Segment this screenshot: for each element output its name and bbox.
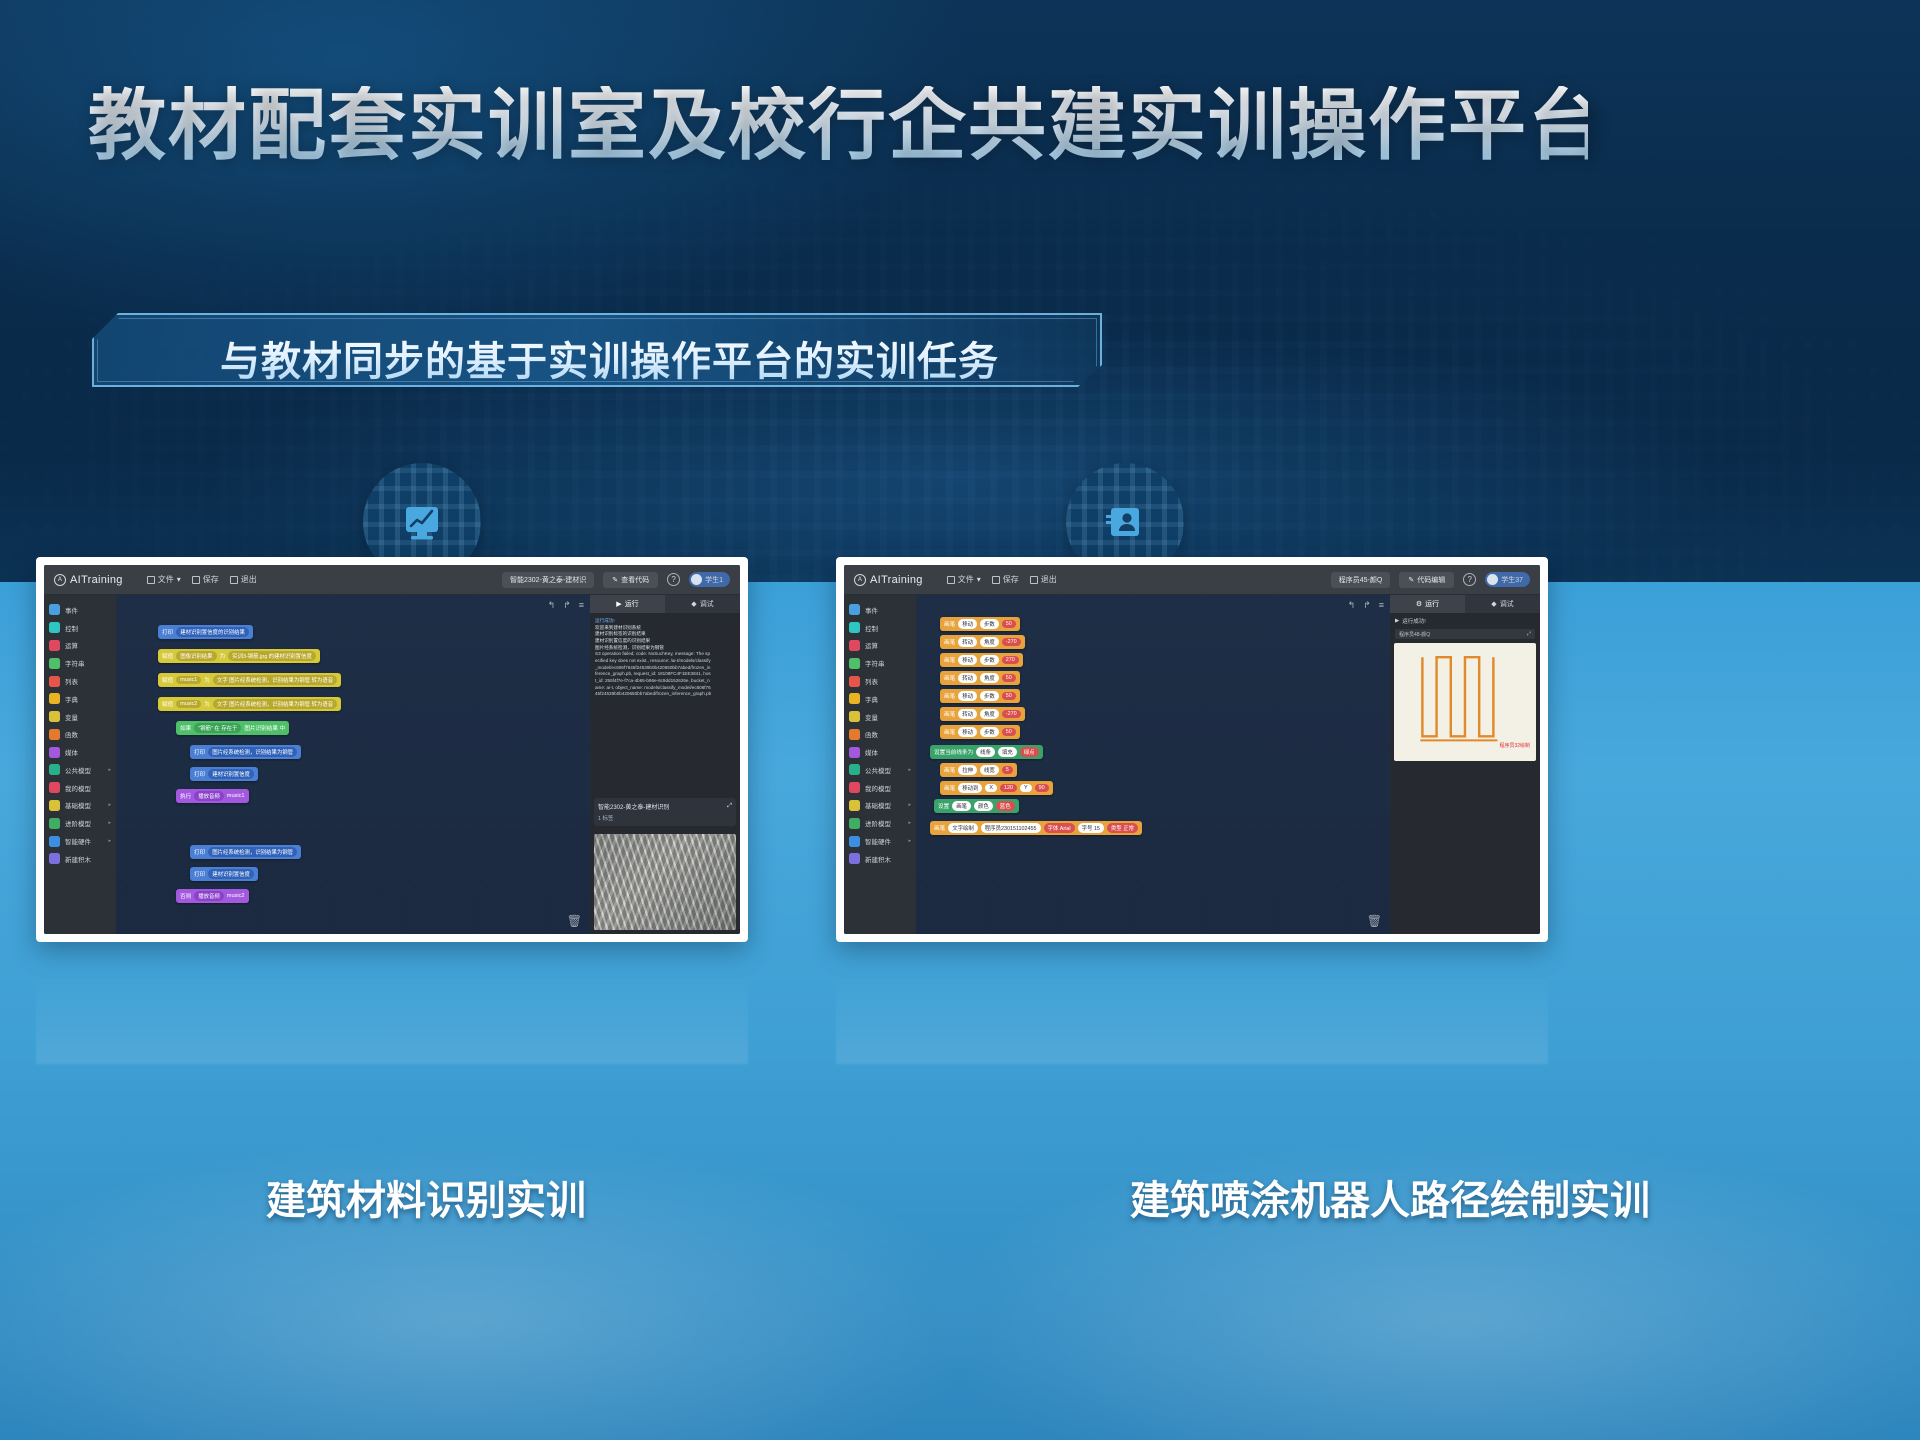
palette-item-14[interactable]: 新建积木 — [44, 850, 116, 868]
code-block-0[interactable]: 打印建材识别置信度的识别结果 — [158, 625, 253, 639]
tab-debug-label: 调试 — [1500, 599, 1514, 609]
palette-category-icon — [49, 853, 60, 864]
block-label: 画笔 — [944, 784, 955, 792]
code-edit-button[interactable]: ✎ 代码编辑 — [1399, 572, 1454, 588]
help-icon[interactable]: ? — [667, 573, 680, 586]
palette-item-11[interactable]: 基础模型▸ — [844, 797, 916, 815]
code-block-10[interactable]: 否则播放音频music2 — [176, 889, 249, 903]
undo-icon[interactable]: ↰ — [1348, 600, 1356, 611]
block-slot-1[interactable]: 为 — [220, 652, 226, 660]
palette-item-9[interactable]: 公共模型▸ — [844, 761, 916, 779]
palette-category-icon — [49, 604, 60, 615]
code-block-10[interactable]: 设置画笔颜色蓝色 — [934, 799, 1019, 813]
block-slot-0[interactable]: music1 — [176, 676, 201, 684]
code-block-8[interactable]: 打印图片经系统检测，识别结果为钢管 — [190, 845, 301, 859]
code-block-8[interactable]: 画笔拉伸线宽5 — [940, 763, 1017, 777]
canvas-grid — [116, 595, 590, 934]
palette-category-icon — [49, 836, 60, 847]
menu-item-save-label: 保存 — [203, 574, 219, 585]
code-block-6[interactable]: 画笔移动步数50 — [940, 725, 1020, 739]
tab-run[interactable]: ▶ 运行 — [590, 595, 665, 613]
file-icon — [947, 576, 955, 584]
block-label: 否则 — [180, 892, 191, 900]
right-app-menu: 文件 ▾ 保存 退出 — [947, 574, 1057, 585]
block-slot-1[interactable]: music2 — [227, 893, 245, 899]
palette-category-icon — [849, 818, 860, 829]
chevron-right-icon: ▸ — [908, 767, 911, 773]
save-icon — [992, 576, 1000, 584]
block-slot-0[interactable]: 图片经系统检测，识别结果为钢管 — [208, 847, 297, 857]
user-chip[interactable]: 学生37 — [1485, 572, 1530, 587]
palette-item-label: 公共模型 — [65, 765, 91, 775]
block-slot-0[interactable]: 建材识别置信度的识别结果 — [176, 627, 249, 637]
right-app-header: A AITraining 文件 ▾ 保存 退出 — [844, 565, 1540, 595]
console-line-8: t_id: 255f4f7e-f7ca-4b65-b96e-6c9dd15262… — [595, 678, 735, 685]
block-slot-4[interactable]: 类型 正常 — [1107, 823, 1138, 833]
screenshot-card-right: A AITraining 文件 ▾ 保存 退出 — [836, 557, 1548, 942]
menu-icon[interactable]: ≡ — [579, 600, 584, 611]
code-block-7[interactable]: 设置当前线条为线条填充绿点 — [930, 745, 1043, 759]
palette-item-7[interactable]: 函数 — [844, 725, 916, 743]
brand-name: AITraining — [870, 574, 923, 586]
subtitle-text: 与教材同步的基于实训操作平台的实训任务 — [220, 329, 999, 387]
stage-label-text: 程序员48-颜Q — [1399, 631, 1430, 638]
palette-item-label: 列表 — [65, 676, 78, 686]
palette-item-label: 变量 — [865, 712, 878, 722]
user-label: 学生37 — [1501, 575, 1523, 585]
palette-item-5[interactable]: 字典 — [44, 690, 116, 708]
expand-icon[interactable]: ⤢ — [1527, 631, 1531, 637]
left-app-body: 事件控制运算字符串列表字典变量函数媒体公共模型▸我的模型基础模型▸进阶模型▸智能… — [44, 595, 740, 934]
palette-item-label: 列表 — [865, 676, 878, 686]
gear-icon: ⚙ — [1416, 600, 1422, 608]
right-app-screenshot: A AITraining 文件 ▾ 保存 退出 — [844, 565, 1540, 934]
code-edit-label: 代码编辑 — [1417, 575, 1445, 585]
block-label: 设置当前线条为 — [934, 748, 973, 756]
code-block-1[interactable]: 赋值图像识别结果为实训3-钢筋.jpg 的建材识别置信度 — [158, 649, 320, 663]
palette-category-icon — [849, 676, 860, 687]
console-line-6: _model/ec606f7645f24539b0b420650bb7abed/… — [595, 665, 735, 672]
menu-item-file[interactable]: 文件 ▾ — [147, 574, 181, 585]
palette-category-icon — [849, 729, 860, 740]
result-subtitle: 1 标签 — [598, 814, 732, 822]
block-label: 执行 — [180, 792, 191, 800]
palette-item-label: 媒体 — [865, 747, 878, 757]
block-slot-2[interactable]: 270 — [1002, 656, 1019, 664]
chevron-right-icon: ▸ — [108, 838, 111, 844]
left-app-screenshot: A AITraining 文件 ▾ 保存 退出 — [44, 565, 740, 934]
palette-item-1[interactable]: 控制 — [44, 619, 116, 637]
tab-debug-label: 调试 — [700, 599, 714, 609]
block-slot-2[interactable]: 50 — [1002, 728, 1016, 736]
palette-item-label: 函数 — [865, 729, 878, 739]
palette-category-icon — [849, 764, 860, 775]
logo-ring-icon: A — [854, 574, 866, 586]
block-slot-1[interactable]: 角度 — [980, 673, 999, 683]
palette-category-icon — [49, 711, 60, 722]
result-title: 智能2302-黄之泰-建材识别 ⤢ — [598, 802, 732, 811]
palette-item-label: 智能硬件 — [865, 836, 891, 846]
palette-category-icon — [849, 693, 860, 704]
palette-item-label: 控制 — [65, 623, 78, 633]
right-header-right: 程序员45-颜Q ✎ 代码编辑 ? 学生37 — [1331, 572, 1530, 588]
tab-run-label: 运行 — [625, 599, 639, 609]
code-block-9[interactable]: 画笔移动到X120Y90 — [940, 781, 1053, 795]
block-slot-2[interactable]: 50 — [1002, 620, 1016, 628]
block-slot-0[interactable]: 图像识别结果 — [176, 651, 216, 661]
menu-item-save-label: 保存 — [1003, 574, 1019, 585]
palette-item-10[interactable]: 我的模型 — [844, 779, 916, 797]
block-label: 打印 — [194, 770, 205, 778]
tab-run[interactable]: ⚙ 运行 — [1390, 595, 1465, 613]
block-slot-1[interactable]: 颜色 — [974, 801, 993, 811]
palette-category-icon — [849, 836, 860, 847]
trash-icon[interactable]: 🗑 — [1367, 914, 1382, 928]
block-slot-0[interactable]: music2 — [176, 700, 201, 708]
block-slot-1[interactable]: 程序员230151102455 — [981, 823, 1041, 833]
block-slot-0[interactable]: 建材识别置信度 — [208, 869, 254, 879]
result-title-text: 智能2302-黄之泰-建材识别 — [598, 802, 669, 811]
palette-item-0[interactable]: 事件 — [844, 601, 916, 619]
palette-item-label: 函数 — [65, 729, 78, 739]
block-slot-1[interactable]: X — [985, 784, 997, 792]
play-icon: ▶ — [616, 600, 621, 608]
console-line-4: S3 operation failed; code: NoSuchKey, me… — [595, 651, 735, 658]
block-slot-0[interactable]: 移动到 — [958, 783, 982, 793]
palette-category-icon — [49, 622, 60, 633]
chevron-down-icon: ▾ — [977, 575, 981, 584]
person-card-icon — [1102, 499, 1148, 545]
tab-debug[interactable]: ◆ 调试 — [665, 595, 740, 613]
user-label: 学生1 — [705, 575, 723, 585]
menu-item-exit[interactable]: 退出 — [230, 574, 257, 585]
palette-category-icon — [49, 800, 60, 811]
palette-item-label: 我的模型 — [65, 783, 91, 793]
block-slot-1[interactable]: 步数 — [980, 727, 999, 737]
console-line-1: 建材识别标签的识别结果 — [595, 631, 735, 638]
palette-item-label: 字典 — [865, 694, 878, 704]
user-chip[interactable]: 学生1 — [689, 572, 730, 587]
block-slot-0[interactable]: 建材识别置信度 — [208, 769, 254, 779]
card-reflection-right — [836, 944, 1548, 1064]
menu-item-exit-label: 退出 — [1041, 574, 1057, 585]
palette-category-icon — [49, 640, 60, 651]
block-slot-2[interactable]: -270 — [1002, 638, 1021, 646]
block-label: 如果 — [180, 724, 191, 732]
brand-name: AITraining — [70, 574, 123, 586]
canvas-toolbar[interactable]: ↰ ↱ ≡ — [548, 600, 584, 611]
block-slot-2[interactable]: 文字 图片经系统检测，识别结果为钢管 转为语音 — [213, 699, 337, 709]
palette-item-label: 事件 — [65, 605, 78, 615]
block-slot-2[interactable]: 文字 图片经系统检测，识别结果为钢管 转为语音 — [213, 675, 337, 685]
block-slot-0[interactable]: 文字绘制 — [948, 823, 978, 833]
palette-item-10[interactable]: 我的模型 — [44, 779, 116, 797]
palette-item-13[interactable]: 智能硬件▸ — [44, 832, 116, 850]
block-slot-3[interactable]: Y — [1020, 784, 1032, 792]
block-slot-0[interactable]: 移动 — [958, 691, 977, 701]
view-code-label: 查看代码 — [621, 575, 649, 585]
caption-left: 建筑材料识别实训 — [266, 1168, 586, 1226]
block-slot-1[interactable]: 步数 — [980, 691, 999, 701]
palette-category-icon — [49, 782, 60, 793]
block-label: 画笔 — [944, 620, 955, 628]
palette-item-2[interactable]: 运算 — [44, 637, 116, 655]
code-block-2[interactable]: 画笔移动步数270 — [940, 653, 1023, 667]
run-tabs-right[interactable]: ⚙ 运行 ◆ 调试 — [1390, 595, 1540, 613]
block-label: 设置 — [938, 802, 949, 810]
menu-item-exit-label: 退出 — [241, 574, 257, 585]
block-slot-0[interactable]: "钢筋" 在 存在于 — [194, 723, 241, 733]
block-slot-0[interactable]: 移动 — [958, 619, 977, 629]
console-output-left: 运行成功! 欢迎来到建材识别系统建材识别标签的识别结果建材识别置信度的识别结果图… — [590, 613, 740, 794]
right-app-window: A AITraining 文件 ▾ 保存 退出 — [844, 565, 1540, 934]
palette-item-3[interactable]: 字符串 — [44, 654, 116, 672]
block-slot-1[interactable]: 角度 — [980, 637, 999, 647]
tab-run-label: 运行 — [1425, 599, 1439, 609]
palette-item-0[interactable]: 事件 — [44, 601, 116, 619]
block-slot-0[interactable]: 拉伸 — [958, 765, 977, 775]
block-slot-1[interactable]: 图片识别结果 中 — [244, 724, 285, 732]
code-block-1[interactable]: 画笔转动角度-270 — [940, 635, 1025, 649]
menu-icon[interactable]: ≡ — [1379, 600, 1384, 611]
code-block-6[interactable]: 打印建材识别置信度 — [190, 767, 258, 781]
run-panel-left: ▶ 运行 ◆ 调试 运行成功! 欢迎来到建材识别系统建材识别标签的识别结果建材识… — [590, 595, 740, 934]
block-slot-1[interactable]: 角度 — [980, 709, 999, 719]
run-panel-right: ⚙ 运行 ◆ 调试 ▶ 运行成功! 程序员48-颜Q — [1390, 595, 1540, 934]
block-label: 画笔 — [944, 674, 955, 682]
palette-category-icon — [849, 782, 860, 793]
palette-item-label: 字典 — [65, 694, 78, 704]
block-slot-0[interactable]: 转动 — [958, 709, 977, 719]
project-name-pill[interactable]: 程序员45-颜Q — [1331, 572, 1391, 588]
code-block-7[interactable]: 执行播放音频music1 — [176, 789, 249, 803]
block-slot-1[interactable]: 线宽 — [980, 765, 999, 775]
run-status-text: 运行成功! — [1402, 617, 1426, 625]
block-slot-1[interactable]: 填充 — [998, 747, 1017, 757]
block-label: 画笔 — [944, 728, 955, 736]
palette-item-label: 公共模型 — [865, 765, 891, 775]
menu-item-file-label: 文件 — [158, 574, 174, 585]
palette-item-label: 基础模型 — [865, 800, 891, 810]
block-slot-3[interactable]: 字号 15 — [1078, 823, 1104, 833]
logout-icon — [1030, 576, 1038, 584]
block-slot-0[interactable]: 播放音频 — [194, 891, 224, 901]
block-slot-0[interactable]: 播放音频 — [194, 791, 224, 801]
block-slot-1[interactable]: 为 — [204, 700, 210, 708]
block-slot-0[interactable]: 转动 — [958, 637, 977, 647]
palette-item-label: 新建积木 — [865, 854, 891, 864]
palette-item-6[interactable]: 变量 — [844, 708, 916, 726]
redo-icon[interactable]: ↱ — [1363, 600, 1371, 611]
palette-item-8[interactable]: 媒体 — [44, 743, 116, 761]
save-icon — [192, 576, 200, 584]
avatar — [691, 574, 702, 585]
menu-item-save[interactable]: 保存 — [192, 574, 219, 585]
pencil-icon: ✎ — [612, 576, 618, 584]
palette-item-11[interactable]: 基础模型▸ — [44, 797, 116, 815]
screenshot-card-left: A AITraining 文件 ▾ 保存 退出 — [36, 557, 748, 942]
left-app-header: A AITraining 文件 ▾ 保存 退出 — [44, 565, 740, 595]
block-palette-left[interactable]: 事件控制运算字符串列表字典变量函数媒体公共模型▸我的模型基础模型▸进阶模型▸智能… — [44, 595, 116, 934]
palette-category-icon — [849, 800, 860, 811]
view-code-button[interactable]: ✎ 查看代码 — [603, 572, 658, 588]
palette-item-label: 进阶模型 — [65, 818, 91, 828]
palette-item-4[interactable]: 列表 — [44, 672, 116, 690]
block-slot-2[interactable]: 绿点 — [1020, 747, 1039, 757]
console-line-7: ference_graph.pb, request_id: 18108FC4F1… — [595, 671, 735, 678]
palette-item-label: 基础模型 — [65, 800, 91, 810]
code-block-9[interactable]: 打印建材识别置信度 — [190, 867, 258, 881]
block-slot-0[interactable]: 移动 — [958, 727, 977, 737]
block-label: 画笔 — [944, 656, 955, 664]
console-status: 运行成功! — [595, 618, 735, 625]
chevron-right-icon: ▸ — [908, 838, 911, 844]
run-tabs-left[interactable]: ▶ 运行 ◆ 调试 — [590, 595, 740, 613]
block-slot-2[interactable]: -270 — [1002, 710, 1021, 718]
help-icon[interactable]: ? — [1463, 573, 1476, 586]
code-block-5[interactable]: 画笔转动角度-270 — [940, 707, 1025, 721]
block-slot-2[interactable]: 50 — [1002, 674, 1016, 682]
pencil-icon: ✎ — [1408, 576, 1414, 584]
palette-item-label: 事件 — [865, 605, 878, 615]
card-reflection-left — [36, 944, 748, 1064]
code-block-3[interactable]: 赋值music2为文字 图片经系统检测，识别结果为钢管 转为语音 — [158, 697, 341, 711]
left-app-window: A AITraining 文件 ▾ 保存 退出 — [44, 565, 740, 934]
block-slot-1[interactable]: 步数 — [980, 619, 999, 629]
code-block-5[interactable]: 打印图片经系统检测，识别结果为钢管 — [190, 745, 301, 759]
block-label: 画笔 — [944, 638, 955, 646]
code-block-4[interactable]: 画笔移动步数50 — [940, 689, 1020, 703]
result-photo — [594, 834, 736, 930]
block-canvas-right[interactable]: ↰ ↱ ≡ 画笔移动步数50画笔转动角度-270画笔移动步数270画笔转动角度5… — [916, 595, 1390, 934]
palette-category-icon — [49, 658, 60, 669]
block-slot-4[interactable]: 90 — [1035, 784, 1049, 792]
code-block-11[interactable]: 画笔文字绘制程序员230151102455字体 Arial字号 15类型 正常 — [930, 821, 1142, 835]
palette-item-label: 运算 — [865, 640, 878, 650]
drawing-stage: 程序员32绘制 — [1394, 643, 1536, 761]
block-slot-2[interactable]: 字体 Arial — [1044, 823, 1075, 833]
block-slot-0[interactable]: 移动 — [958, 655, 977, 665]
caption-right: 建筑喷涂机器人路径绘制实训 — [1130, 1168, 1650, 1226]
block-canvas-left[interactable]: ↰ ↱ ≡ 打印建材识别置信度的识别结果赋值图像识别结果为实训3-钢筋.jpg … — [116, 595, 590, 934]
palette-item-label: 我的模型 — [865, 783, 891, 793]
palette-item-2[interactable]: 运算 — [844, 637, 916, 655]
console-line-5: ecified key does not exist., resource: /… — [595, 658, 735, 665]
console-lines: 欢迎来到建材识别系统建材识别标签的识别结果建材识别置信度的识别结果图片经系统检测… — [595, 625, 735, 698]
bug-icon: ◆ — [691, 600, 696, 608]
palette-category-icon — [49, 747, 60, 758]
block-label: 画笔 — [944, 692, 955, 700]
block-slot-0[interactable]: 图片经系统检测，识别结果为钢管 — [208, 747, 297, 757]
run-status: ▶ 运行成功! — [1390, 613, 1540, 625]
palette-item-12[interactable]: 进阶模型▸ — [44, 814, 116, 832]
drawing-annotation: 程序员32绘制 — [1499, 742, 1530, 749]
bug-icon: ◆ — [1491, 600, 1496, 608]
code-block-2[interactable]: 赋值music1为文字 图片经系统检测，识别结果为钢管 转为语音 — [158, 673, 341, 687]
palette-category-icon — [849, 604, 860, 615]
chevron-down-icon: ▾ — [177, 575, 181, 584]
file-icon — [147, 576, 155, 584]
block-label: 打印 — [194, 848, 205, 856]
chevron-right-icon: ▸ — [108, 820, 111, 826]
palette-item-label: 字符串 — [865, 658, 885, 668]
palette-item-1[interactable]: 控制 — [844, 619, 916, 637]
block-label: 画笔 — [944, 766, 955, 774]
code-block-0[interactable]: 画笔移动步数50 — [940, 617, 1020, 631]
block-slot-2[interactable]: 蓝色 — [996, 801, 1015, 811]
palette-category-icon — [49, 818, 60, 829]
palette-item-9[interactable]: 公共模型▸ — [44, 761, 116, 779]
palette-item-13[interactable]: 智能硬件▸ — [844, 832, 916, 850]
page-title: 教材配套实训室及校行企共建实训操作平台 — [88, 86, 1588, 164]
app-logo: A AITraining — [54, 574, 123, 586]
palette-item-label: 进阶模型 — [865, 818, 891, 828]
block-slot-1[interactable]: 步数 — [980, 655, 999, 665]
palette-item-label: 新建积木 — [65, 854, 91, 864]
block-slot-1[interactable]: 为 — [204, 676, 210, 684]
subtitle-ribbon: 与教材同步的基于实训操作平台的实训任务 — [92, 313, 1102, 387]
block-label: 画笔 — [944, 710, 955, 718]
block-label: 打印 — [194, 870, 205, 878]
palette-item-6[interactable]: 变量 — [44, 708, 116, 726]
menu-item-save[interactable]: 保存 — [992, 574, 1019, 585]
result-box: 智能2302-黄之泰-建材识别 ⤢ 1 标签 — [594, 798, 736, 826]
palette-item-12[interactable]: 进阶模型▸ — [844, 814, 916, 832]
trash-icon[interactable]: 🗑 — [567, 914, 582, 928]
block-slot-2[interactable]: 实训3-钢筋.jpg 的建材识别置信度 — [228, 651, 316, 661]
console-line-10: 45f24539b0b420650bb7abed/frozen_inferenc… — [595, 691, 735, 698]
palette-item-label: 媒体 — [65, 747, 78, 757]
logout-icon — [230, 576, 238, 584]
palette-item-4[interactable]: 列表 — [844, 672, 916, 690]
tab-debug[interactable]: ◆ 调试 — [1465, 595, 1540, 613]
logo-ring-icon: A — [54, 574, 66, 586]
chevron-right-icon: ▸ — [908, 802, 911, 808]
palette-item-3[interactable]: 字符串 — [844, 654, 916, 672]
palette-item-14[interactable]: 新建积木 — [844, 850, 916, 868]
undo-icon[interactable]: ↰ — [548, 600, 556, 611]
block-slot-0[interactable]: 转动 — [958, 673, 977, 683]
palette-category-icon — [49, 764, 60, 775]
palette-category-icon — [849, 711, 860, 722]
menu-item-exit[interactable]: 退出 — [1030, 574, 1057, 585]
palette-item-7[interactable]: 函数 — [44, 725, 116, 743]
right-app-body: 事件控制运算字符串列表字典变量函数媒体公共模型▸我的模型基础模型▸进阶模型▸智能… — [844, 595, 1540, 934]
code-block-4[interactable]: 如果"钢筋" 在 存在于图片识别结果 中 — [176, 721, 289, 735]
redo-icon[interactable]: ↱ — [563, 600, 571, 611]
palette-category-icon — [49, 676, 60, 687]
block-slot-2[interactable]: 120 — [1000, 784, 1017, 792]
block-slot-0[interactable]: 画笔 — [952, 801, 971, 811]
expand-icon[interactable]: ⤢ — [727, 803, 732, 810]
code-block-3[interactable]: 画笔转动角度50 — [940, 671, 1020, 685]
palette-item-label: 控制 — [865, 623, 878, 633]
block-slot-2[interactable]: 5 — [1002, 766, 1013, 774]
block-slot-2[interactable]: 50 — [1002, 692, 1016, 700]
block-slot-1[interactable]: music1 — [227, 793, 245, 799]
project-name-pill[interactable]: 智能2302-黄之泰-建材识 — [502, 572, 594, 588]
palette-item-5[interactable]: 字典 — [844, 690, 916, 708]
palette-item-label: 字符串 — [65, 658, 85, 668]
palette-item-label: 变量 — [65, 712, 78, 722]
menu-item-file[interactable]: 文件 ▾ — [947, 574, 981, 585]
photo-texture-b — [594, 834, 736, 930]
palette-item-8[interactable]: 媒体 — [844, 743, 916, 761]
canvas-toolbar[interactable]: ↰ ↱ ≡ — [1348, 600, 1384, 611]
block-palette-right[interactable]: 事件控制运算字符串列表字典变量函数媒体公共模型▸我的模型基础模型▸进阶模型▸智能… — [844, 595, 916, 934]
palette-category-icon — [849, 853, 860, 864]
block-slot-0[interactable]: 线条 — [976, 747, 995, 757]
